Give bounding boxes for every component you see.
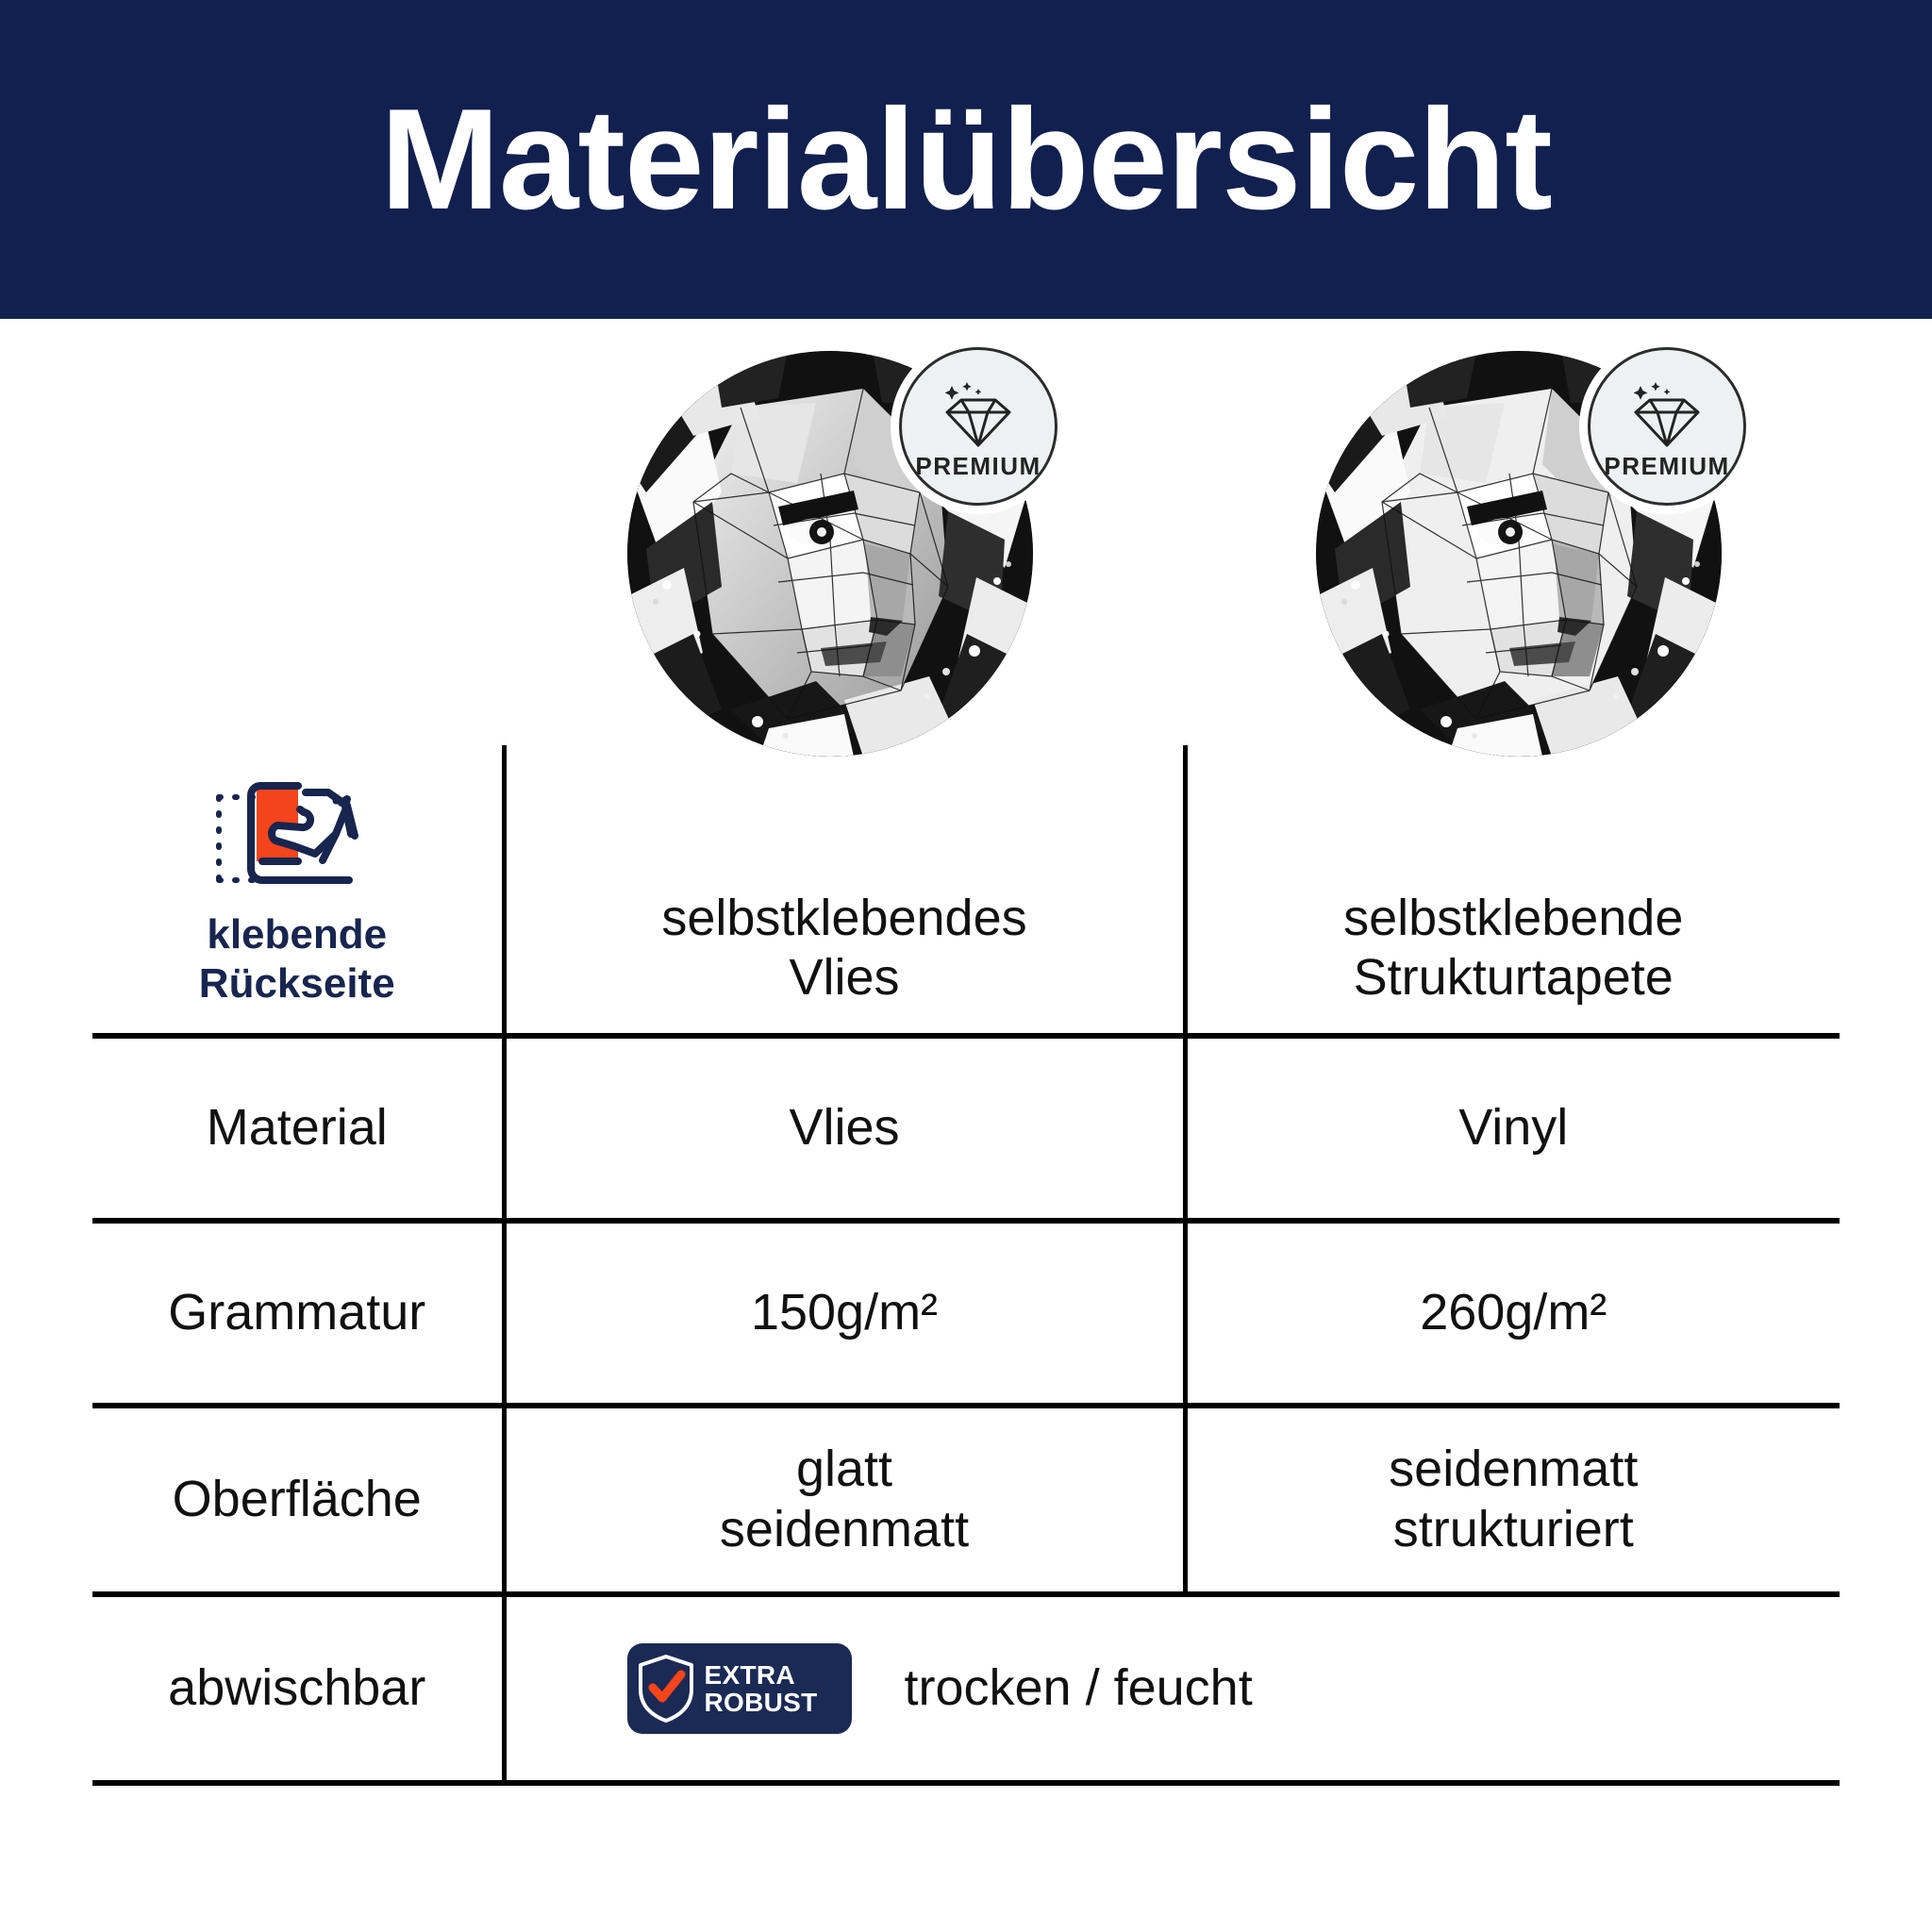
table-row-oberflaeche: Oberfläche glatt seidenmatt seidenmatt s… [92, 1406, 1840, 1594]
sticky-back-caption-line2: Rückseite [199, 960, 395, 1007]
column-b-header-line1: selbstklebende [1343, 890, 1683, 946]
row-abwischbar-value-cell: EXTRA ROBUST trocken / feucht [504, 1594, 1840, 1783]
row-oberflaeche-column-b: seidenmatt strukturiert [1185, 1406, 1840, 1594]
column-a-header-line2: Vlies [789, 949, 899, 1006]
row-label-grammatur: Grammatur [92, 1221, 504, 1406]
oberflaeche-b-line2: strukturiert [1393, 1501, 1634, 1557]
shield-check-icon [637, 1654, 695, 1724]
row-label-abwischbar: abwischbar [92, 1594, 504, 1783]
column-a-header: selbstklebendes Vlies [504, 745, 1185, 1036]
extra-robust-line1: EXTRA [705, 1660, 795, 1690]
premium-badge-label: PREMIUM [915, 454, 1041, 478]
column-b-header-line2: Strukturtapete [1354, 949, 1674, 1006]
sticky-back-cell: klebende Rückseite [92, 745, 504, 1036]
table-header-row: klebende Rückseite selbstklebendes Vlies… [92, 745, 1840, 1036]
product-preview-left: PREMIUM [627, 351, 1052, 775]
table-row-grammatur: Grammatur 150g/m² 260g/m² [92, 1221, 1840, 1406]
sticky-back-caption-line1: klebende [207, 911, 387, 958]
premium-badge-left: PREMIUM [899, 347, 1058, 506]
oberflaeche-b-line1: seidenmatt [1389, 1441, 1638, 1497]
page-title: Materialübersicht [380, 88, 1552, 231]
page-header-banner: Materialübersicht [0, 0, 1932, 319]
row-label-material: Material [92, 1036, 504, 1221]
premium-badge-label: PREMIUM [1604, 454, 1729, 478]
diamond-icon [1626, 380, 1707, 450]
table-row-abwischbar: abwischbar EXTRA ROBUST [92, 1594, 1840, 1783]
column-a-header-line1: selbstklebendes [661, 890, 1026, 946]
product-preview-right: PREMIUM [1316, 351, 1740, 775]
sticky-back-caption: klebende Rückseite [199, 910, 395, 1008]
row-grammatur-column-b: 260g/m² [1185, 1221, 1840, 1406]
extra-robust-line2: ROBUST [705, 1688, 818, 1717]
row-oberflaeche-column-a: glatt seidenmatt [504, 1406, 1185, 1594]
oberflaeche-a-line2: seidenmatt [720, 1501, 969, 1557]
column-b-header: selbstklebende Strukturtapete [1185, 745, 1840, 1036]
material-overview-page: Materialübersicht [0, 0, 1932, 1932]
premium-badge-right: PREMIUM [1588, 347, 1746, 506]
peeling-sticker-hand-icon [208, 774, 387, 895]
row-material-column-b: Vinyl [1185, 1036, 1840, 1221]
material-comparison-table: klebende Rückseite selbstklebendes Vlies… [92, 745, 1840, 1786]
abwischbar-value: trocken / feucht [905, 1658, 1253, 1719]
table-row-material: Material Vlies Vinyl [92, 1036, 1840, 1221]
diamond-icon [938, 380, 1019, 450]
extra-robust-badge: EXTRA ROBUST [627, 1643, 852, 1734]
row-label-oberflaeche: Oberfläche [92, 1406, 504, 1594]
row-material-column-a: Vlies [504, 1036, 1185, 1221]
oberflaeche-a-line1: glatt [796, 1441, 892, 1497]
extra-robust-label: EXTRA ROBUST [705, 1661, 818, 1716]
row-grammatur-column-a: 150g/m² [504, 1221, 1185, 1406]
